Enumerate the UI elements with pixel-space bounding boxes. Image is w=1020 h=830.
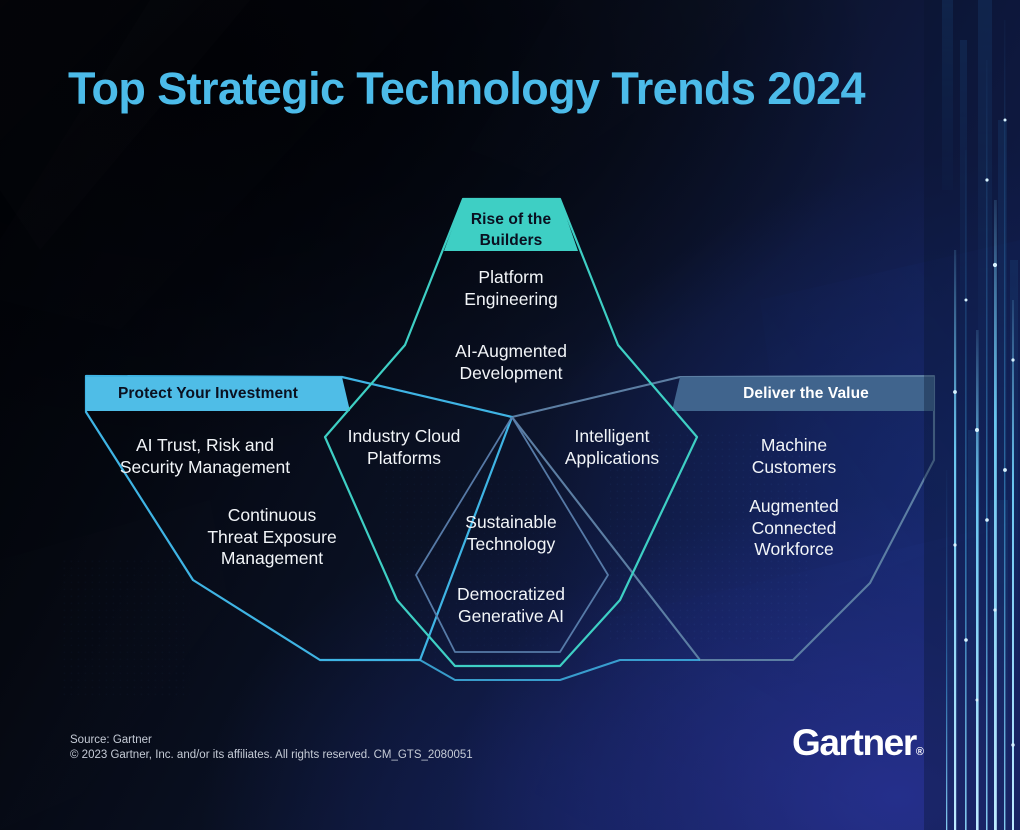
trend-line: Augmented: [706, 496, 882, 518]
bottom-convergence: [320, 660, 700, 680]
trend-line: Customers: [706, 457, 882, 479]
banner-label-protect-your-investment: Protect Your Investment: [96, 385, 320, 403]
trend-line: Sustainable: [422, 512, 600, 534]
gartner-logo: Gartner®: [792, 722, 924, 764]
trend-line: Threat Exposure: [182, 527, 362, 549]
trend-line: Technology: [422, 534, 600, 556]
trend-line: Security Management: [98, 457, 312, 479]
footer-credits: Source: Gartner © 2023 Gartner, Inc. and…: [70, 733, 473, 763]
trend-line: Development: [416, 363, 606, 385]
infographic-canvas: Top Strategic Technology Trends 2024 Ris…: [0, 0, 1020, 830]
trend-democratized-generative-ai: Democratized Generative AI: [418, 584, 604, 627]
trend-line: Machine: [706, 435, 882, 457]
trend-line: Applications: [524, 448, 700, 470]
trends-venn-diagram: [0, 0, 1020, 830]
trend-continuous-threat-exposure-management: Continuous Threat Exposure Management: [182, 505, 362, 570]
trend-line: Intelligent: [524, 426, 700, 448]
banner-line-2: Builders: [432, 230, 590, 251]
trend-line: Workforce: [706, 539, 882, 561]
banner-line-1: Rise of the: [432, 209, 590, 230]
trend-line: Connected: [706, 518, 882, 540]
trend-line: Platform: [422, 267, 600, 289]
trend-line: Generative AI: [418, 606, 604, 628]
banner-label-deliver-the-value: Deliver the Value: [694, 385, 918, 403]
trend-intelligent-applications: Intelligent Applications: [524, 426, 700, 469]
trend-augmented-connected-workforce: Augmented Connected Workforce: [706, 496, 882, 561]
trend-ai-augmented-development: AI-Augmented Development: [416, 341, 606, 384]
trend-industry-cloud-platforms: Industry Cloud Platforms: [314, 426, 494, 469]
trend-line: Management: [182, 548, 362, 570]
footer-source: Source: Gartner: [70, 733, 473, 748]
trend-line: AI Trust, Risk and: [98, 435, 312, 457]
registered-trademark-icon: ®: [916, 746, 924, 758]
footer-copyright: © 2023 Gartner, Inc. and/or its affiliat…: [70, 748, 473, 763]
trend-line: Engineering: [422, 289, 600, 311]
trend-line: AI-Augmented: [416, 341, 606, 363]
trend-machine-customers: Machine Customers: [706, 435, 882, 478]
trend-ai-trust-risk-and-security-management: AI Trust, Risk and Security Management: [98, 435, 312, 478]
trend-line: Platforms: [314, 448, 494, 470]
trend-platform-engineering: Platform Engineering: [422, 267, 600, 310]
trend-sustainable-technology: Sustainable Technology: [422, 512, 600, 555]
trend-line: Democratized: [418, 584, 604, 606]
trend-line: Continuous: [182, 505, 362, 527]
banner-label-rise-of-the-builders: Rise of the Builders: [432, 209, 590, 251]
gartner-wordmark: Gartner: [792, 722, 916, 763]
trend-line: Industry Cloud: [314, 426, 494, 448]
